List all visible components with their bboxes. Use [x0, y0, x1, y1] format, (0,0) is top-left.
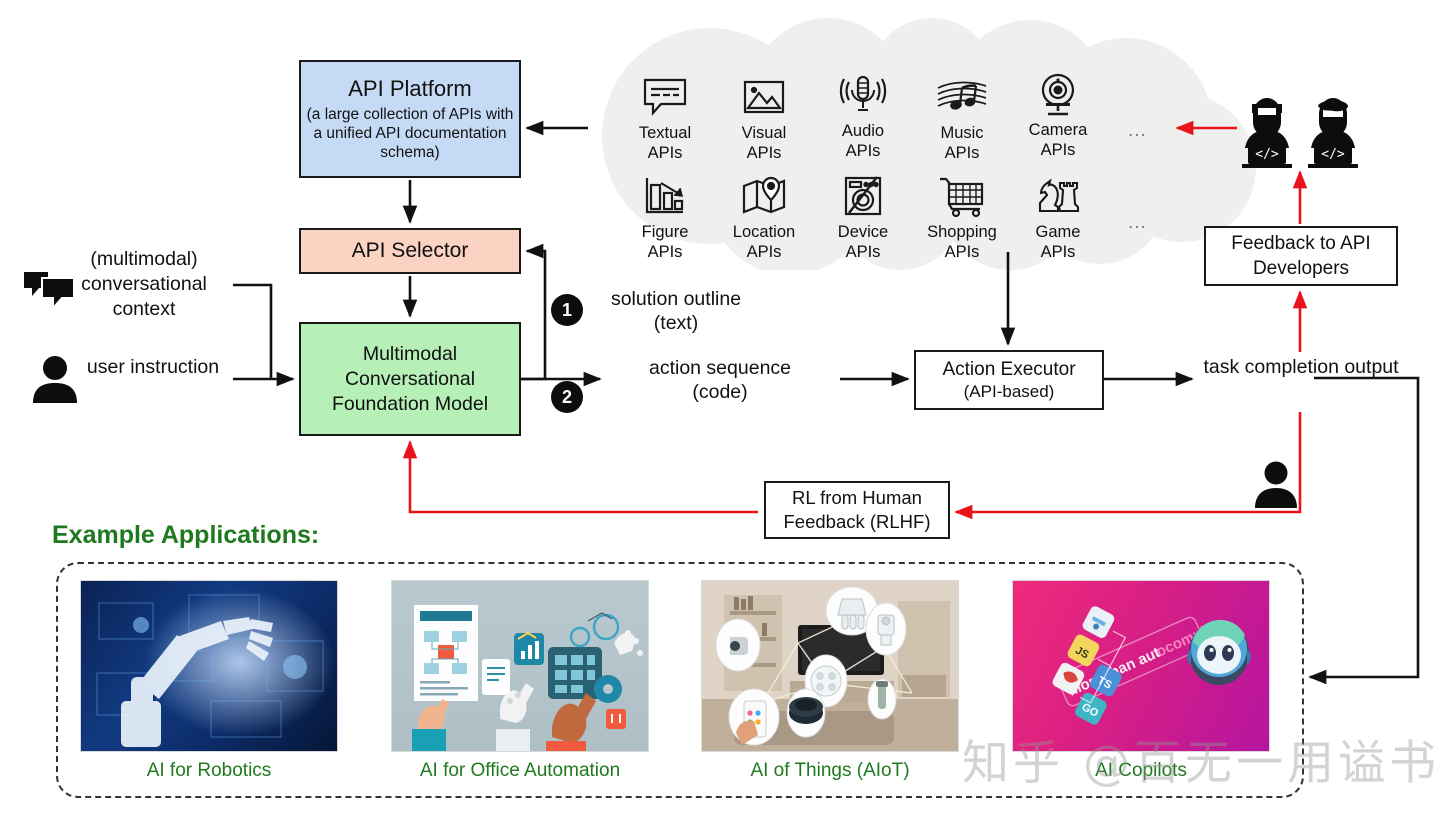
solution-outline-main: solution outline: [576, 287, 776, 311]
conversational-context-label: (multimodal) conversational context: [55, 247, 233, 322]
end-user-icon: [1252, 460, 1300, 508]
game-api-icon: [1008, 172, 1108, 222]
api-suffix-location: APIs: [714, 242, 814, 262]
cloud-ellipsis-bottom: ...: [1128, 212, 1147, 234]
cloud-ellipsis-top: ...: [1128, 120, 1147, 142]
api-item-audio[interactable]: Audio APIs: [813, 71, 913, 161]
api-name-visual: Visual: [714, 123, 814, 143]
location-api-icon: [714, 172, 814, 222]
api-item-music[interactable]: Music APIs: [912, 73, 1012, 163]
device-api-icon: [813, 172, 913, 222]
api-suffix-music: APIs: [912, 143, 1012, 163]
api-item-camera[interactable]: Camera APIs: [1008, 70, 1108, 160]
step-1-badge: 1: [551, 294, 583, 326]
api-name-audio: Audio: [813, 121, 913, 141]
action-sequence-main: action sequence: [608, 356, 832, 380]
shopping-api-icon: [912, 172, 1012, 222]
user-person-icon: [30, 355, 80, 403]
api-platform-box[interactable]: API Platform (a large collection of APIs…: [299, 60, 521, 178]
task-completion-output-label: task completion output: [1198, 355, 1404, 379]
api-suffix-game: APIs: [1008, 242, 1108, 262]
api-suffix-shopping: APIs: [912, 242, 1012, 262]
api-item-game[interactable]: Game APIs: [1008, 172, 1108, 262]
solution-outline-sub: (text): [576, 311, 776, 335]
smart-home-thumbnail: [701, 580, 959, 752]
figure-api-icon: [615, 172, 715, 222]
example-card-office[interactable]: AI for Office Automation: [391, 580, 649, 782]
api-name-camera: Camera: [1008, 120, 1108, 140]
example-caption-office: AI for Office Automation: [391, 760, 649, 782]
action-sequence-sub: (code): [608, 380, 832, 404]
api-suffix-figure: APIs: [615, 242, 715, 262]
api-platform-subtitle: (a large collection of APIs with a unifi…: [301, 105, 519, 162]
api-selector-title: API Selector: [352, 239, 469, 263]
api-suffix-visual: APIs: [714, 143, 814, 163]
api-suffix-audio: APIs: [813, 141, 913, 161]
api-selector-box[interactable]: API Selector: [299, 228, 521, 274]
action-sequence-label: action sequence (code): [608, 356, 832, 404]
api-platform-title: API Platform: [348, 76, 471, 102]
example-applications-heading: Example Applications:: [52, 521, 319, 550]
diagram-canvas: API Platform (a large collection of APIs…: [0, 0, 1440, 813]
api-item-device[interactable]: Device APIs: [813, 172, 913, 262]
api-item-location[interactable]: Location APIs: [714, 172, 814, 262]
api-name-music: Music: [912, 123, 1012, 143]
api-name-location: Location: [714, 222, 814, 242]
api-suffix-device: APIs: [813, 242, 913, 262]
developer-female-icon: </>: [1238, 98, 1296, 170]
api-suffix-camera: APIs: [1008, 140, 1108, 160]
camera-api-icon: [1008, 70, 1108, 120]
api-name-textual: Textual: [615, 123, 715, 143]
audio-api-icon: [813, 71, 913, 121]
svg-text:</>: </>: [1321, 147, 1345, 162]
action-executor-title: Action Executor: [942, 359, 1075, 381]
api-item-textual[interactable]: Textual APIs: [615, 73, 715, 163]
api-name-shopping: Shopping: [912, 222, 1012, 242]
feedback-to-developers-box[interactable]: Feedback to API Developers: [1204, 226, 1398, 286]
textual-api-icon: [615, 73, 715, 123]
action-executor-box[interactable]: Action Executor (API-based): [914, 350, 1104, 410]
api-suffix-textual: APIs: [615, 143, 715, 163]
visual-api-icon: [714, 73, 814, 123]
solution-outline-label: solution outline (text): [576, 287, 776, 335]
example-card-robotics[interactable]: AI for Robotics: [80, 580, 338, 782]
robotic-arm-thumbnail: [80, 580, 338, 752]
user-instruction-label: user instruction: [78, 355, 228, 380]
step-2-badge: 2: [551, 381, 583, 413]
svg-text:</>: </>: [1255, 147, 1279, 162]
rlhf-title: RL from Human Feedback (RLHF): [766, 486, 948, 534]
api-name-figure: Figure: [615, 222, 715, 242]
api-item-figure[interactable]: Figure APIs: [615, 172, 715, 262]
action-executor-subtitle: (API-based): [964, 381, 1055, 402]
api-name-device: Device: [813, 222, 913, 242]
example-card-aiot[interactable]: AI of Things (AIoT): [701, 580, 959, 782]
zhihu-watermark: 知乎 @百无一用谥书生: [962, 724, 1440, 793]
foundation-model-box[interactable]: Multimodal Conversational Foundation Mod…: [299, 322, 521, 436]
feedback-to-developers-title: Feedback to API Developers: [1206, 231, 1396, 281]
office-automation-thumbnail: [391, 580, 649, 752]
api-name-game: Game: [1008, 222, 1108, 242]
rlhf-box[interactable]: RL from Human Feedback (RLHF): [764, 481, 950, 539]
api-item-visual[interactable]: Visual APIs: [714, 73, 814, 163]
music-api-icon: [912, 73, 1012, 123]
example-caption-aiot: AI of Things (AIoT): [701, 760, 959, 782]
api-item-shopping[interactable]: Shopping APIs: [912, 172, 1012, 262]
example-caption-robotics: AI for Robotics: [80, 760, 338, 782]
developer-male-icon: </>: [1304, 98, 1362, 170]
foundation-model-title: Multimodal Conversational Foundation Mod…: [301, 342, 519, 417]
